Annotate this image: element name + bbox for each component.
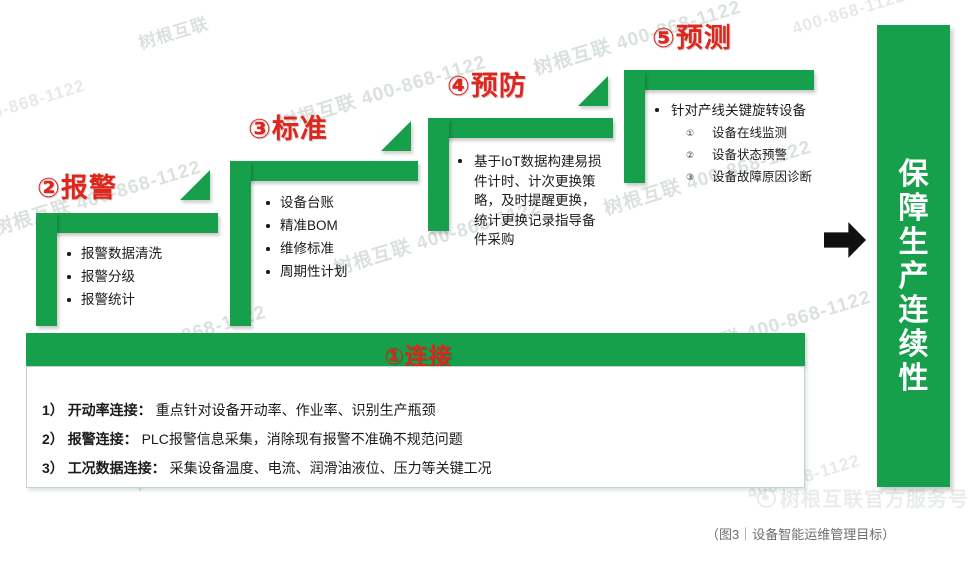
diagram-canvas: 400-868-1122 树根互联 树根互联 400-868-1122 树根互联… xyxy=(0,0,973,571)
connect-header-bar: ①连接 xyxy=(26,333,805,366)
list-item: 周期性计划 xyxy=(263,260,348,283)
list-item: ① 设备在线监测 xyxy=(686,122,812,144)
step-2-ramp-icon xyxy=(180,170,210,200)
connect-row-term: 开动率连接： xyxy=(68,402,152,418)
step-2-title: ②报警 xyxy=(37,166,117,205)
list-item: ② 设备状态预警 xyxy=(686,144,812,166)
arrow-right-icon xyxy=(824,221,866,259)
connect-row-index: 2） xyxy=(42,431,64,447)
step-3-title: ③标准 xyxy=(248,107,328,146)
goal-char: 障 xyxy=(877,192,950,226)
sub-label: 设备在线监测 xyxy=(712,126,787,140)
step-3-ramp-icon xyxy=(381,121,411,151)
step-5-top-bar xyxy=(624,70,814,90)
connect-row: 3） 工况数据连接： 采集设备温度、电流、润滑油液位、压力等关键工况 xyxy=(42,458,492,478)
sub-index: ① xyxy=(686,122,694,144)
goal-panel-text: 保 障 生 产 连 续 性 xyxy=(877,158,950,396)
goal-char: 连 xyxy=(877,294,950,328)
watermark-text: 400-868-1122 xyxy=(0,76,88,129)
step-4-top-bar xyxy=(428,118,613,138)
connect-row-term: 报警连接： xyxy=(68,431,138,447)
connect-row: 2） 报警连接： PLC报警信息采集，消除现有报警不准确不规范问题 xyxy=(42,429,463,449)
brand-logo-text: 树根互联官方服务号 xyxy=(780,489,969,511)
list-item: ③ 设备故障原因诊断 xyxy=(686,166,812,188)
figure-caption: （图3｜设备智能运维管理目标） xyxy=(706,524,895,543)
step-5-sub-list: ① 设备在线监测 ② 设备状态预警 ③ 设备故障原因诊断 xyxy=(686,122,812,188)
connect-row-index: 1） xyxy=(42,402,64,418)
connect-row-index: 3） xyxy=(42,460,64,476)
connect-row-term: 工况数据连接： xyxy=(68,460,166,476)
list-item: 报警统计 xyxy=(64,288,162,311)
connect-row-detail: PLC报警信息采集，消除现有报警不准确不规范问题 xyxy=(142,431,463,447)
step-3-bullet-list: 设备台账 精准BOM 维修标准 周期性计划 xyxy=(263,191,348,283)
connect-row-detail: 采集设备温度、电流、润滑油液位、压力等关键工况 xyxy=(170,460,492,476)
goal-char: 生 xyxy=(877,226,950,260)
list-item: 设备台账 xyxy=(263,191,348,214)
goal-panel: 保 障 生 产 连 续 性 xyxy=(877,25,950,487)
step-5-left-bar xyxy=(624,70,645,183)
list-item: 维修标准 xyxy=(263,237,348,260)
step-4-paragraph-text: 基于IoT数据构建易损件计时、计次更换策略，及时提醒更换，统计更换记录指导备件采… xyxy=(458,152,606,250)
goal-char: 产 xyxy=(877,260,950,294)
goal-char: 性 xyxy=(877,362,950,396)
goal-char: 续 xyxy=(877,328,950,362)
watermark-text: 树根互联 xyxy=(135,9,211,54)
sub-index: ③ xyxy=(686,166,694,188)
list-item: 精准BOM xyxy=(263,214,348,237)
step-4-ramp-icon xyxy=(578,76,608,106)
step-4-paragraph: 基于IoT数据构建易损件计时、计次更换策略，及时提醒更换，统计更换记录指导备件采… xyxy=(458,152,606,250)
sub-index: ② xyxy=(686,144,694,166)
connect-row: 1） 开动率连接： 重点针对设备开动率、作业率、识别生产瓶颈 xyxy=(42,400,436,420)
step-2-top-bar xyxy=(36,213,218,233)
bullet-dot-icon xyxy=(458,159,462,163)
sub-label: 设备状态预警 xyxy=(712,148,787,162)
step-4-left-bar xyxy=(428,118,449,231)
step-5-lead-text: 针对产线关键旋转设备 xyxy=(655,101,845,121)
step-5-lead: 针对产线关键旋转设备 xyxy=(655,101,845,121)
goal-char: 保 xyxy=(877,158,950,192)
connect-row-detail: 重点针对设备开动率、作业率、识别生产瓶颈 xyxy=(156,402,436,418)
list-item: 报警分级 xyxy=(64,265,162,288)
step-2-left-bar xyxy=(36,213,57,326)
step-3-left-bar xyxy=(230,161,251,326)
step-4-title: ④预防 xyxy=(447,64,527,103)
step-5-title: ⑤预测 xyxy=(652,16,732,55)
list-item: 报警数据清洗 xyxy=(64,242,162,265)
sub-label: 设备故障原因诊断 xyxy=(712,170,812,184)
brand-mark-icon xyxy=(757,489,776,508)
bullet-dot-icon xyxy=(655,108,659,112)
step-2-bullet-list: 报警数据清洗 报警分级 报警统计 xyxy=(64,242,162,311)
step-3-top-bar xyxy=(230,161,418,181)
